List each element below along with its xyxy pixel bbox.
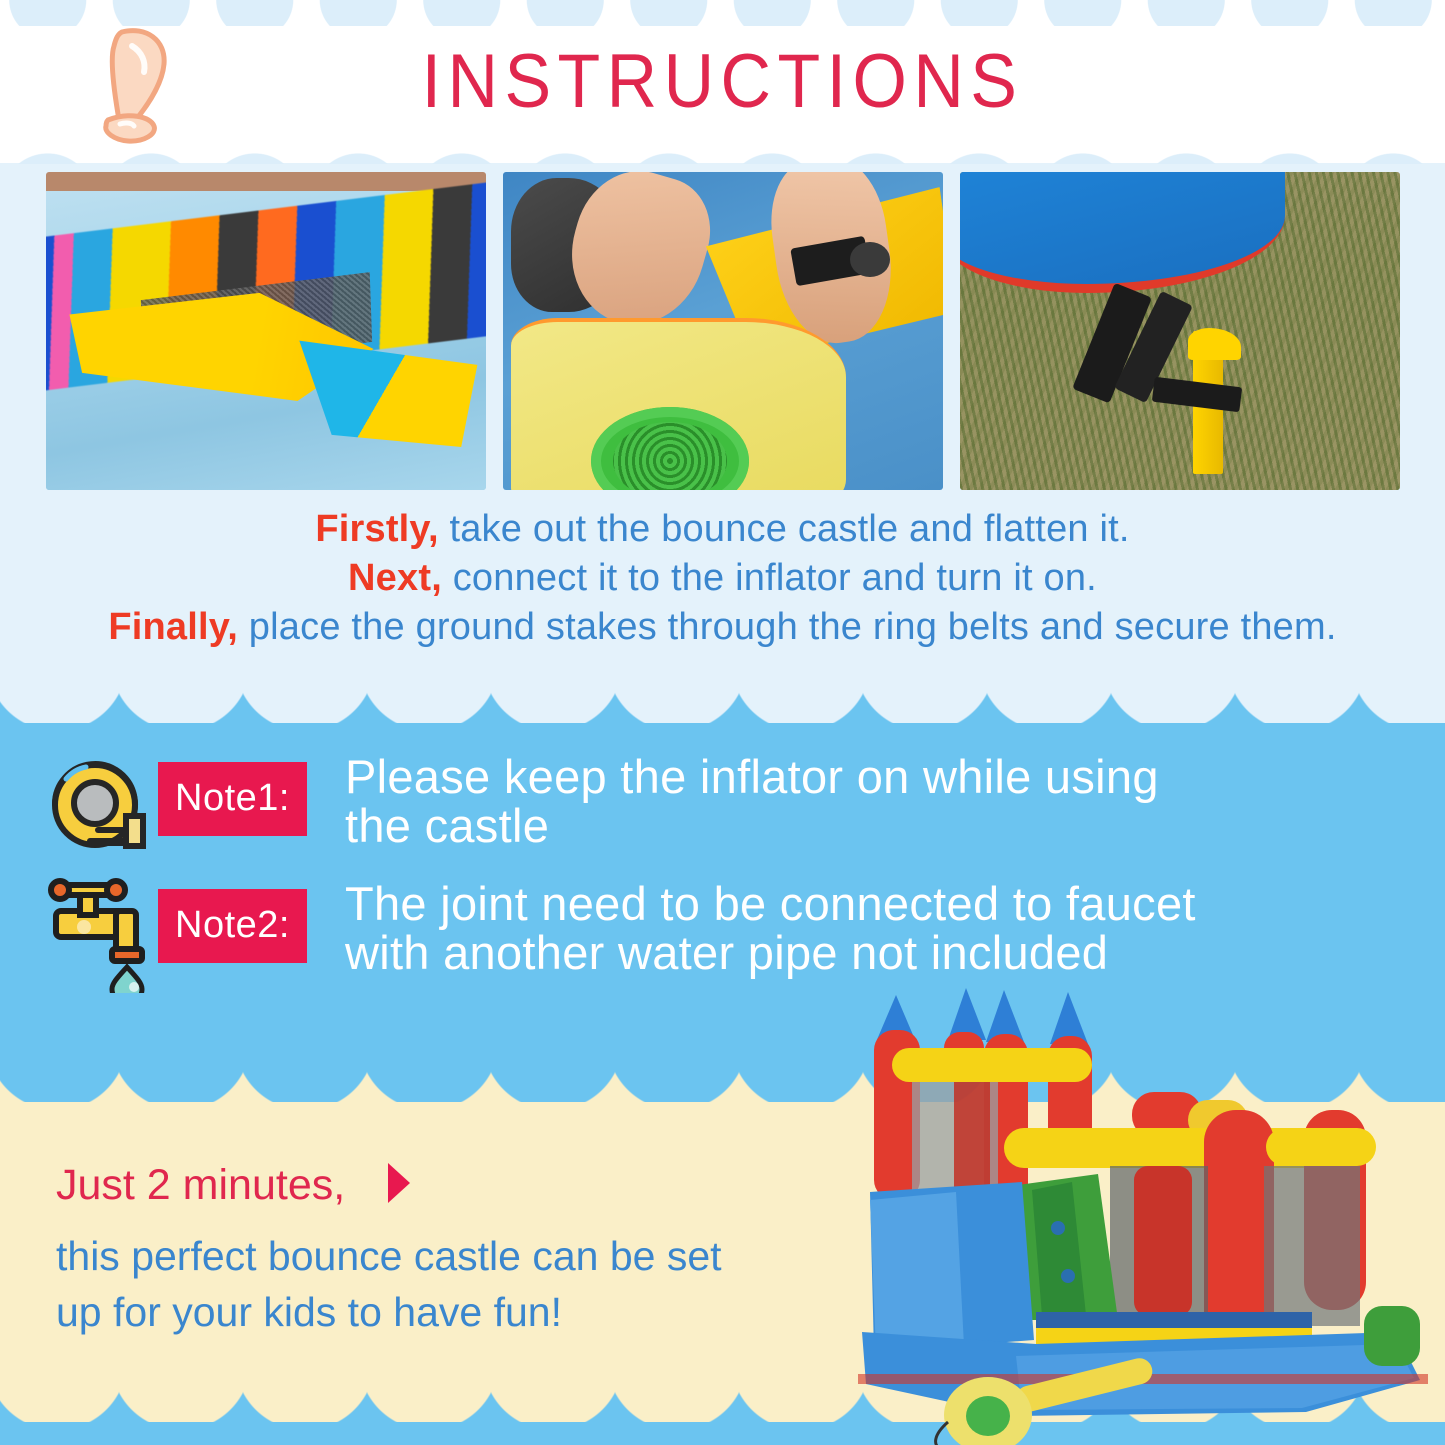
step-body-1: take out the bounce castle and flatten i… bbox=[439, 508, 1130, 550]
closing-body: this perfect bounce castle can be set up… bbox=[56, 1228, 722, 1340]
header-scallop-bottom bbox=[0, 128, 1445, 164]
instructions-page: INSTRUCTIONS Firstly, take out the bounc… bbox=[0, 0, 1445, 1445]
page-title: INSTRUCTIONS bbox=[58, 38, 1387, 125]
play-triangle-icon bbox=[388, 1163, 410, 1203]
photo-connect-inflator bbox=[503, 172, 943, 490]
note-text-1-line-1: Please keep the inflator on while using bbox=[345, 752, 1159, 801]
note-text-2-line-1: The joint need to be connected to faucet bbox=[345, 879, 1196, 928]
step-lead-2: Next, bbox=[348, 557, 442, 599]
header-scallop-top bbox=[0, 0, 1445, 26]
wave-divider-light-to-blue bbox=[0, 661, 1445, 723]
step-body-3: place the ground stakes through the ring… bbox=[238, 606, 1337, 648]
closing-line-2: up for your kids to have fun! bbox=[56, 1284, 722, 1340]
step-line-3: Finally, place the ground stakes through… bbox=[0, 603, 1445, 652]
bounce-castle-image bbox=[836, 960, 1445, 1445]
photo-row bbox=[0, 172, 1445, 490]
inflator-icon bbox=[38, 748, 158, 866]
note-badge-2: Note2: bbox=[158, 889, 307, 963]
closing-highlight: Just 2 minutes, bbox=[56, 1160, 345, 1210]
faucet-icon bbox=[38, 875, 158, 993]
photo-flattened-castle bbox=[46, 172, 486, 490]
step-body-2: connect it to the inflator and turn it o… bbox=[442, 557, 1097, 599]
photo-ground-stake bbox=[960, 172, 1400, 490]
step-lead-3: Finally, bbox=[108, 606, 238, 648]
step-line-2: Next, connect it to the inflator and tur… bbox=[0, 554, 1445, 603]
closing-line-1: this perfect bounce castle can be set bbox=[56, 1228, 722, 1284]
step-lead-1: Firstly, bbox=[315, 508, 438, 550]
note-text-1-line-2: the castle bbox=[345, 801, 1159, 850]
header-banner: INSTRUCTIONS bbox=[0, 0, 1445, 163]
steps-text: Firstly, take out the bounce castle and … bbox=[0, 505, 1445, 652]
step-line-1: Firstly, take out the bounce castle and … bbox=[0, 505, 1445, 554]
note-text-1: Please keep the inflator on while using … bbox=[345, 752, 1159, 850]
closing-block: Just 2 minutes, this perfect bounce cast… bbox=[56, 1160, 722, 1340]
note-row-1: Note1: Please keep the inflator on while… bbox=[38, 748, 1159, 866]
note-badge-1: Note1: bbox=[158, 762, 307, 836]
